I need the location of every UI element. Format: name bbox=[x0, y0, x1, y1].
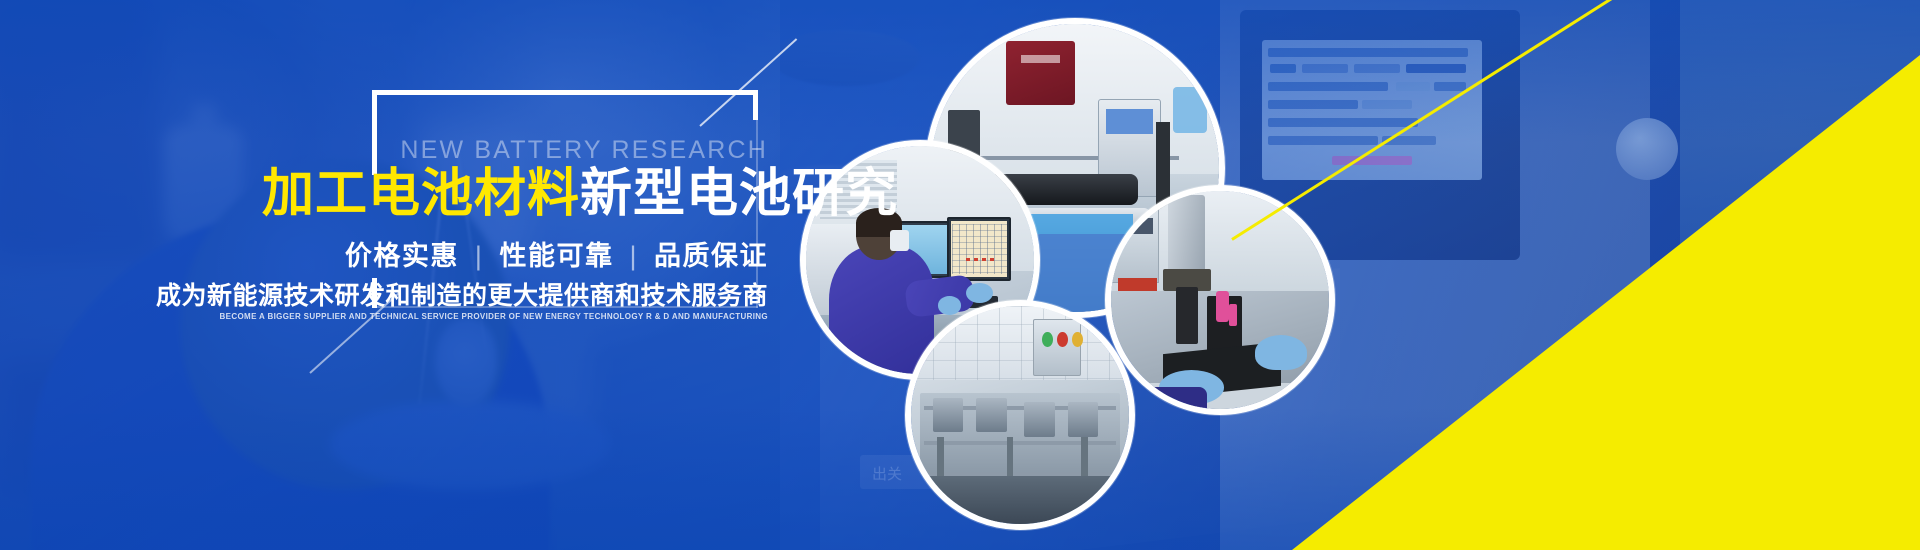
page-title: 加工电池材料新型电池研究 bbox=[262, 166, 898, 223]
photo-circle-press-operation[interactable] bbox=[1105, 185, 1335, 415]
eyebrow-text: NEW BATTERY RESEARCH bbox=[400, 136, 768, 165]
hero-banner: 出关 NEW BATTERY RESEARCH 加工电池材料新型电池研究 价格实… bbox=[0, 0, 1920, 550]
feature-item-1: 价格实惠 bbox=[345, 241, 459, 271]
photo-circle-assembly-line[interactable] bbox=[905, 300, 1135, 530]
feature-separator-2: | bbox=[622, 241, 645, 271]
headline-highlight: 加工电池材料 bbox=[262, 165, 580, 223]
tagline-text: 成为新能源技术研发和制造的更大提供商和技术服务商 bbox=[156, 276, 768, 312]
feature-item-2: 性能可靠 bbox=[499, 241, 613, 271]
feature-list: 价格实惠 | 性能可靠 | 品质保证 bbox=[345, 234, 768, 273]
feature-item-3: 品质保证 bbox=[654, 241, 768, 271]
tagline-english: BECOME A BIGGER SUPPLIER AND TECHNICAL S… bbox=[220, 312, 768, 321]
headline-rest: 新型电池研究 bbox=[580, 165, 898, 223]
feature-separator-1: | bbox=[468, 241, 491, 271]
